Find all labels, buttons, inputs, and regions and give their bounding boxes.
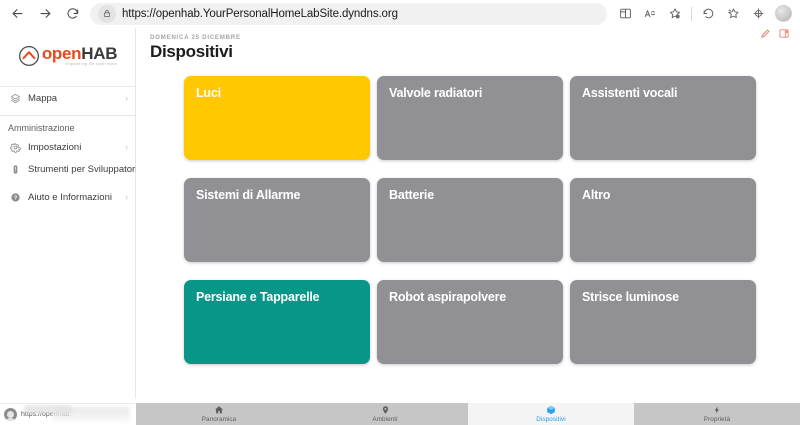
sidebar-item-aiuto-informazioni[interactable]: ? Aiuto e Informazioni › [0,186,135,208]
browser-toolbar-icons [613,2,800,26]
back-button[interactable] [4,2,30,26]
status-bar-blur-overlay-2 [24,405,72,413]
tab-label: Proprietà [704,416,730,423]
chevron-right-icon: › [125,143,128,152]
browser-toolbar: https://openhab.YourPersonalHomeLabSite.… [0,0,800,28]
navigation-buttons [0,2,86,26]
card-title: Assistenti vocali [582,87,744,101]
layers-icon [8,91,22,105]
sidebar-item-label: Impostazioni [28,142,125,153]
card-title: Valvole radiatori [389,87,551,101]
device-cards-grid: Luci Valvole radiatori Assistenti vocali… [184,76,764,364]
address-bar-url: https://openhab.YourPersonalHomeLabSite.… [122,8,398,20]
card-title: Persiane e Tapparelle [196,291,358,305]
page-content: openHAB empowering the smart home Mappa … [0,28,800,425]
card-title: Robot aspirapolvere [389,291,551,305]
address-bar[interactable]: https://openhab.YourPersonalHomeLabSite.… [90,3,607,25]
sidebar-item-label: Strumenti per Sviluppatori [28,164,137,175]
sidebar-item-label: Mappa [28,93,125,104]
reload-button[interactable] [60,2,86,26]
card-title: Batterie [389,189,551,203]
split-screen-icon[interactable] [613,2,637,26]
logo-text-hab: HAB [81,44,117,63]
sidebar: openHAB empowering the smart home Mappa … [0,28,136,398]
card-title: Luci [196,87,358,101]
sidebar-group-amministrazione: Amministrazione [0,116,135,136]
device-card-batterie[interactable]: Batterie [377,178,563,262]
device-card-altro[interactable]: Altro [570,178,756,262]
device-card-sistemi-di-allarme[interactable]: Sistemi di Allarme [184,178,370,262]
header-actions [760,28,790,39]
page-header: DOMENICA 25 DICEMBRE Dispositivi [136,28,800,62]
tab-label: Dispositivi [536,416,565,423]
lightning-bolt-icon [713,405,721,415]
tab-panoramica[interactable]: Panoramica [136,403,302,425]
collections-icon[interactable] [721,2,745,26]
home-icon [214,405,224,415]
tab-ambienti[interactable]: Ambienti [302,403,468,425]
card-title: Sistemi di Allarme [196,189,358,203]
device-card-strisce-luminose[interactable]: Strisce luminose [570,280,756,364]
bottom-tab-bar: Panoramica Ambienti Dispositivi Propriet… [136,403,800,425]
device-card-robot-aspirapolvere[interactable]: Robot aspirapolvere [377,280,563,364]
tab-proprieta[interactable]: Proprietà [634,403,800,425]
chevron-right-icon: › [125,94,128,103]
tab-dispositivi[interactable]: Dispositivi [468,403,634,425]
cube-icon [546,405,556,415]
header-date: DOMENICA 25 DICEMBRE [150,34,786,41]
sidebar-item-label: Aiuto e Informazioni [28,192,125,203]
device-card-persiane-e-tapparelle[interactable]: Persiane e Tapparelle [184,280,370,364]
favorites-add-icon[interactable] [663,2,687,26]
history-icon[interactable] [696,2,720,26]
tab-label: Panoramica [202,416,237,423]
gear-icon [8,140,22,154]
tab-label: Ambienti [372,416,397,423]
openhab-mark-icon [18,45,40,67]
profile-avatar[interactable] [771,2,795,26]
device-card-assistenti-vocali[interactable]: Assistenti vocali [570,76,756,160]
help-circle-icon: ? [8,190,22,204]
openhab-logo[interactable]: openHAB empowering the smart home [0,28,135,80]
device-card-valvole-radiatori[interactable]: Valvole radiatori [377,76,563,160]
card-title: Altro [582,189,744,203]
wrench-icon [8,162,22,176]
card-title: Strisce luminose [582,291,744,305]
logo-text-open: open [42,44,81,63]
toolbar-divider [691,7,692,21]
sidebar-item-mappa[interactable]: Mappa › [0,87,135,109]
chevron-right-icon: › [125,193,128,202]
layout-panel-icon[interactable] [778,28,790,39]
forward-button[interactable] [32,2,58,26]
logo-tagline: empowering the smart home [42,63,117,67]
browser-status-bar: https://openhab. [0,403,136,425]
avatar [775,5,792,22]
sidebar-item-impostazioni[interactable]: Impostazioni › [0,136,135,158]
page-title: Dispositivi [150,42,786,62]
browser-essentials-icon[interactable] [746,2,770,26]
main-content: DOMENICA 25 DICEMBRE Dispositivi Luci Va… [136,28,800,403]
sidebar-item-strumenti-sviluppatori[interactable]: Strumenti per Sviluppatori › [0,158,135,180]
device-card-luci[interactable]: Luci [184,76,370,160]
read-aloud-icon[interactable] [638,2,662,26]
location-pin-icon [381,405,390,415]
site-lock-icon[interactable] [98,5,116,23]
account-avatar-icon [4,408,17,421]
edit-pencil-icon[interactable] [760,28,771,39]
